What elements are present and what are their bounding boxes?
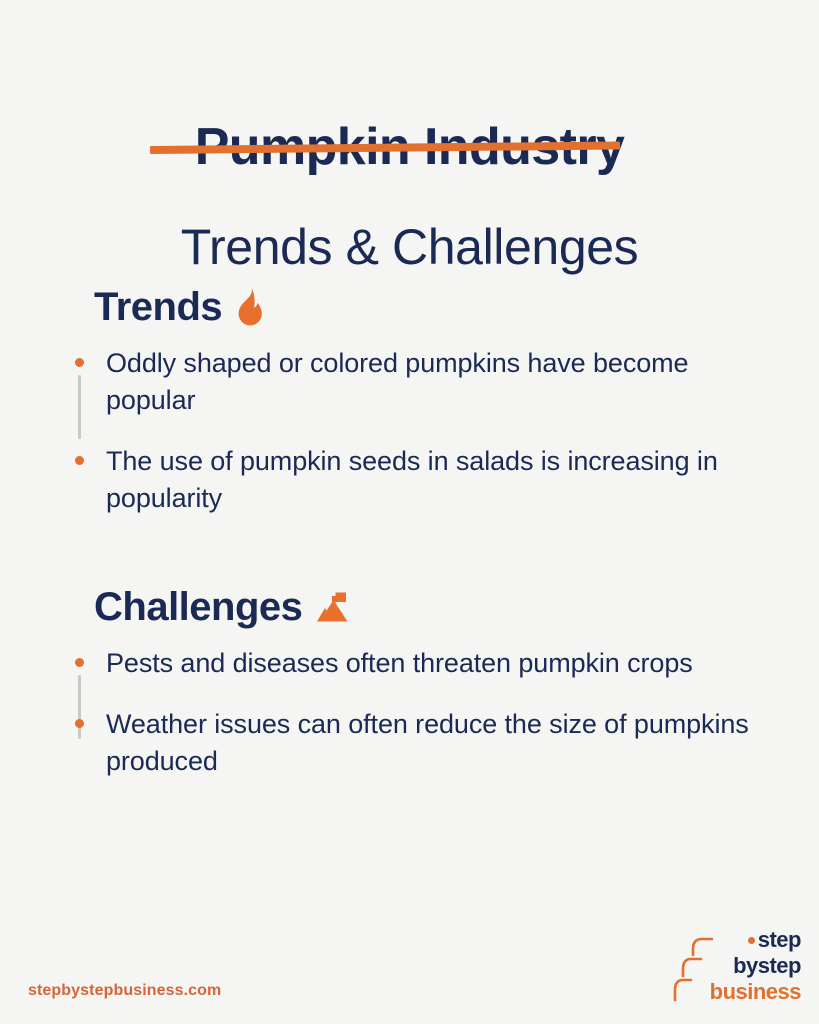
logo-dot-icon bbox=[748, 937, 755, 944]
brand-logo: step bystep business bbox=[671, 928, 801, 1004]
mountain-flag-icon bbox=[314, 588, 352, 626]
list-item-text: Oddly shaped or colored pumpkins have be… bbox=[106, 345, 766, 419]
section-challenges-header: Challenges bbox=[94, 583, 772, 631]
bullet-dot-icon bbox=[75, 358, 84, 367]
logo-line-1: step bbox=[705, 928, 801, 954]
logo-line-3: business bbox=[705, 980, 801, 1006]
logo-wordmark: step bystep business bbox=[705, 928, 801, 1006]
bullet-dot-icon bbox=[75, 456, 84, 465]
list-item: Weather issues can often reduce the size… bbox=[72, 706, 772, 780]
logo-word-by: by bbox=[733, 953, 758, 978]
section-trends-header: Trends bbox=[94, 283, 772, 331]
footer-website-url: stepbystepbusiness.com bbox=[28, 982, 221, 1000]
list-item-text: The use of pumpkin seeds in salads is in… bbox=[106, 443, 766, 517]
list-item: Oddly shaped or colored pumpkins have be… bbox=[72, 345, 772, 419]
logo-word-step: step bbox=[758, 927, 801, 952]
logo-word-step2: step bbox=[758, 953, 801, 978]
challenges-list: Pests and diseases often threaten pumpki… bbox=[72, 645, 772, 780]
section-challenges: Challenges Pests and diseases often thre… bbox=[72, 583, 772, 780]
list-item-text: Weather issues can often reduce the size… bbox=[106, 706, 766, 780]
section-challenges-label: Challenges bbox=[94, 584, 302, 630]
list-item-text: Pests and diseases often threaten pumpki… bbox=[106, 645, 766, 682]
logo-word-business: business bbox=[710, 979, 801, 1004]
page-header: Pumpkin Industry Trends & Challenges bbox=[0, 82, 819, 276]
page-subtitle: Trends & Challenges bbox=[0, 218, 819, 276]
bullet-dot-icon bbox=[75, 719, 84, 728]
section-trends: Trends Oddly shaped or colored pumpkins … bbox=[72, 283, 772, 517]
fire-icon bbox=[234, 288, 266, 326]
trends-list: Oddly shaped or colored pumpkins have be… bbox=[72, 345, 772, 517]
bullet-connector-line bbox=[78, 375, 81, 439]
logo-line-2: bystep bbox=[705, 954, 801, 980]
infographic-page: Pumpkin Industry Trends & Challenges Tre… bbox=[0, 0, 819, 1024]
bullet-dot-icon bbox=[75, 658, 84, 667]
section-trends-label: Trends bbox=[94, 284, 222, 330]
list-item: The use of pumpkin seeds in salads is in… bbox=[72, 443, 772, 517]
list-item: Pests and diseases often threaten pumpki… bbox=[72, 645, 772, 682]
